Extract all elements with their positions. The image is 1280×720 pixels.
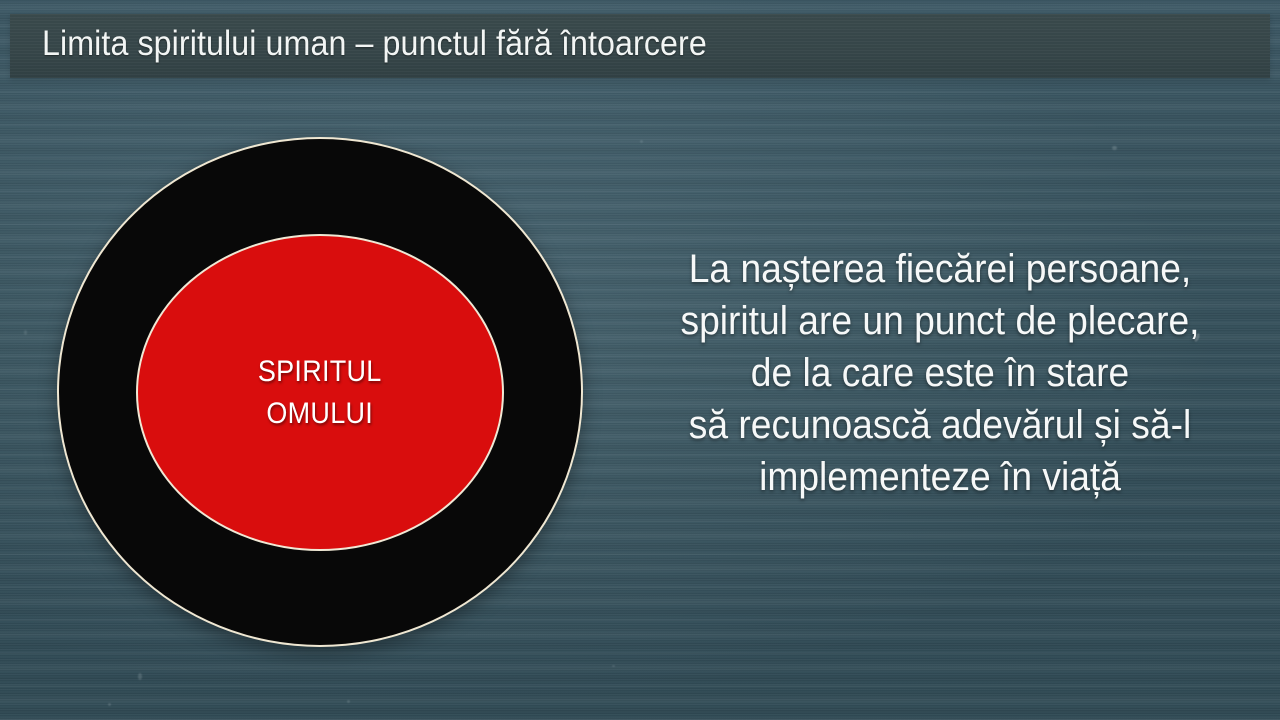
texture-speck (640, 140, 643, 143)
texture-speck (108, 703, 111, 706)
presentation-slide: Limita spiritului uman – punctul fără în… (0, 0, 1280, 720)
texture-speck (138, 673, 142, 680)
inner-circle-label: SPIRITUL OMULUI (258, 351, 382, 435)
page-title: Limita spiritului uman – punctul fără în… (42, 22, 707, 66)
inner-circle-shape: SPIRITUL OMULUI (136, 234, 504, 551)
texture-speck (1112, 146, 1117, 150)
body-paragraph: La nașterea fiecărei persoane, spiritul … (661, 243, 1219, 503)
texture-speck (612, 665, 615, 667)
spirit-diagram: SPIRITUL OMULUI (57, 137, 583, 647)
texture-speck (24, 330, 27, 335)
outer-ring-shape: SPIRITUL OMULUI (57, 137, 583, 647)
texture-speck (347, 700, 350, 703)
